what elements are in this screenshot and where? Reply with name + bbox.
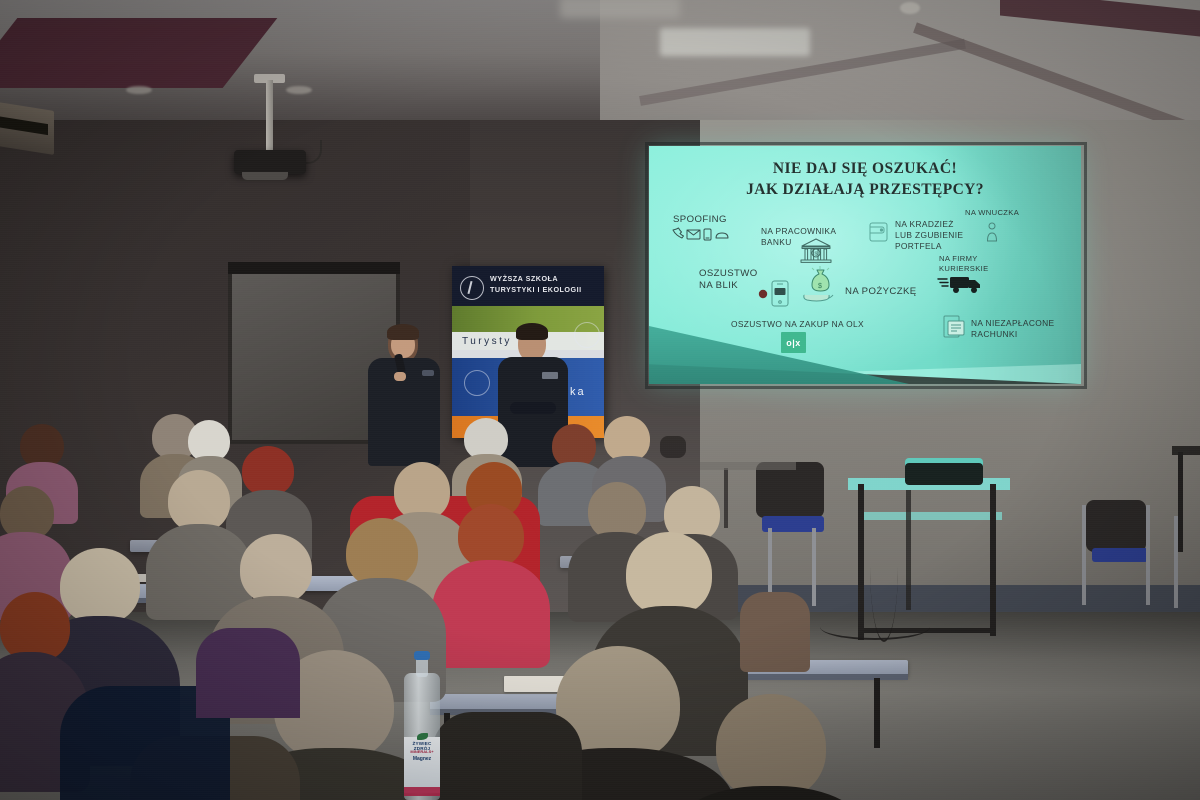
floor-cable: [820, 614, 930, 640]
presenter2-crossed-arms: [510, 402, 556, 414]
projection-screen-border: [645, 142, 1087, 389]
bottle-cap: [414, 651, 430, 660]
bottle-variant: Magnez: [404, 756, 440, 762]
ceiling-downlight-2: [286, 86, 312, 94]
chair-backrest-2: [1086, 500, 1146, 552]
lecture-hall-photo: NIE DAJ SIĘ OSZUKAĆ! JAK DZIAŁAJĄ PRZEST…: [0, 0, 1200, 800]
chair-leg-2: [812, 528, 816, 606]
banner-seal-icon-1: [574, 322, 600, 348]
projector-lens: [242, 172, 288, 180]
chair-seat-2: [1092, 548, 1148, 562]
chair-leg-5: [1174, 516, 1178, 608]
bottle-neck: [416, 657, 428, 677]
banner-title-line-2: TURYSTYKI I EKOLOGII: [490, 285, 600, 296]
projector-mount-rod: [266, 80, 273, 152]
chair-leg-3: [1082, 505, 1086, 605]
smoke-detector-icon: [900, 2, 920, 14]
table-leg-3: [906, 490, 911, 610]
far-right-table-leg: [1178, 452, 1183, 552]
presenter-officer-female: [366, 326, 442, 466]
bottle-label-band: [404, 787, 440, 796]
chair-backrest-3: [660, 436, 686, 458]
banner-word-right: ka: [570, 386, 586, 398]
banner-title: WYŻSZA SZKOŁA TURYSTYKI I EKOLOGII: [490, 274, 600, 296]
presenter-hair: [387, 324, 419, 340]
presenter2-hair: [516, 323, 548, 340]
university-logo-icon: [460, 276, 484, 300]
table-leg-2: [990, 484, 996, 636]
bottle-subtitle: MINERALS+: [404, 749, 440, 754]
uniform-patch: [422, 370, 434, 376]
ceiling-downlight: [126, 86, 152, 94]
desk-leg-3: [874, 678, 880, 748]
chair-leg-4: [1146, 505, 1150, 605]
banner-title-line-1: WYŻSZA SZKOŁA: [490, 274, 600, 285]
side-table-leg: [724, 468, 728, 528]
whiteboard-top-rail: [228, 262, 400, 274]
far-right-table-top: [1172, 446, 1200, 455]
presenter-hand: [394, 372, 406, 381]
table-projector: [905, 463, 983, 485]
chair-backrest-1: [756, 462, 824, 518]
water-bottle: ŻYWIEC ZDRÓJ MINERALS+ Magnez: [404, 655, 440, 800]
ceiling-light-panel: [660, 28, 810, 56]
police-badge-text: [542, 372, 558, 379]
ceiling-light-panel-2: [560, 0, 680, 18]
banner-seal-icon-2: [464, 370, 490, 396]
ceiling-projector: [234, 150, 306, 174]
side-table-top: [700, 462, 796, 470]
